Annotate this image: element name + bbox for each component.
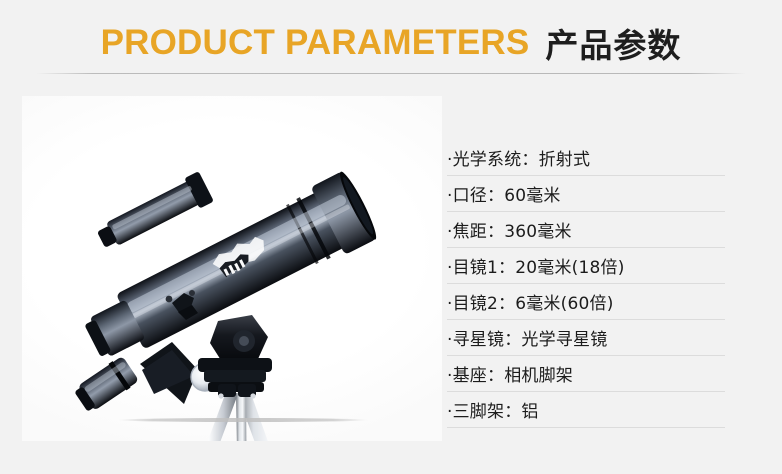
telescope-illustration (22, 96, 442, 441)
spec-row: ·目镜2：6毫米(60倍) (447, 284, 725, 320)
spec-row: ·目镜1：20毫米(18倍) (447, 248, 725, 284)
spec-text: ·口径：60毫米 (447, 181, 561, 206)
page-title-en: PRODUCT PARAMETERS (101, 23, 530, 63)
spec-row: ·三脚架：铝 (447, 392, 725, 428)
spec-row: ·寻星镜：光学寻星镜 (447, 320, 725, 356)
spec-text: ·光学系统：折射式 (447, 145, 590, 170)
spec-row: ·口径：60毫米 (447, 176, 725, 212)
spec-text: ·基座：相机脚架 (447, 361, 573, 386)
page-header: PRODUCT PARAMETERS 产品参数 (0, 18, 782, 68)
product-shadow (118, 418, 368, 422)
product-image (22, 96, 442, 441)
spec-row: ·焦距：360毫米 (447, 212, 725, 248)
spec-text: ·三脚架：铝 (447, 397, 539, 422)
header-divider (36, 73, 746, 74)
product-parameters-page: PRODUCT PARAMETERS 产品参数 (0, 0, 782, 474)
spec-list: ·光学系统：折射式 ·口径：60毫米 ·焦距：360毫米 ·目镜1：20毫米(1… (447, 140, 725, 428)
page-title-cn: 产品参数 (545, 19, 681, 67)
spec-row: ·光学系统：折射式 (447, 140, 725, 176)
spec-text: ·寻星镜：光学寻星镜 (447, 325, 607, 350)
spec-text: ·目镜2：6毫米(60倍) (447, 289, 614, 314)
spec-text: ·焦距：360毫米 (447, 217, 572, 242)
spec-text: ·目镜1：20毫米(18倍) (447, 253, 625, 278)
spec-row: ·基座：相机脚架 (447, 356, 725, 392)
